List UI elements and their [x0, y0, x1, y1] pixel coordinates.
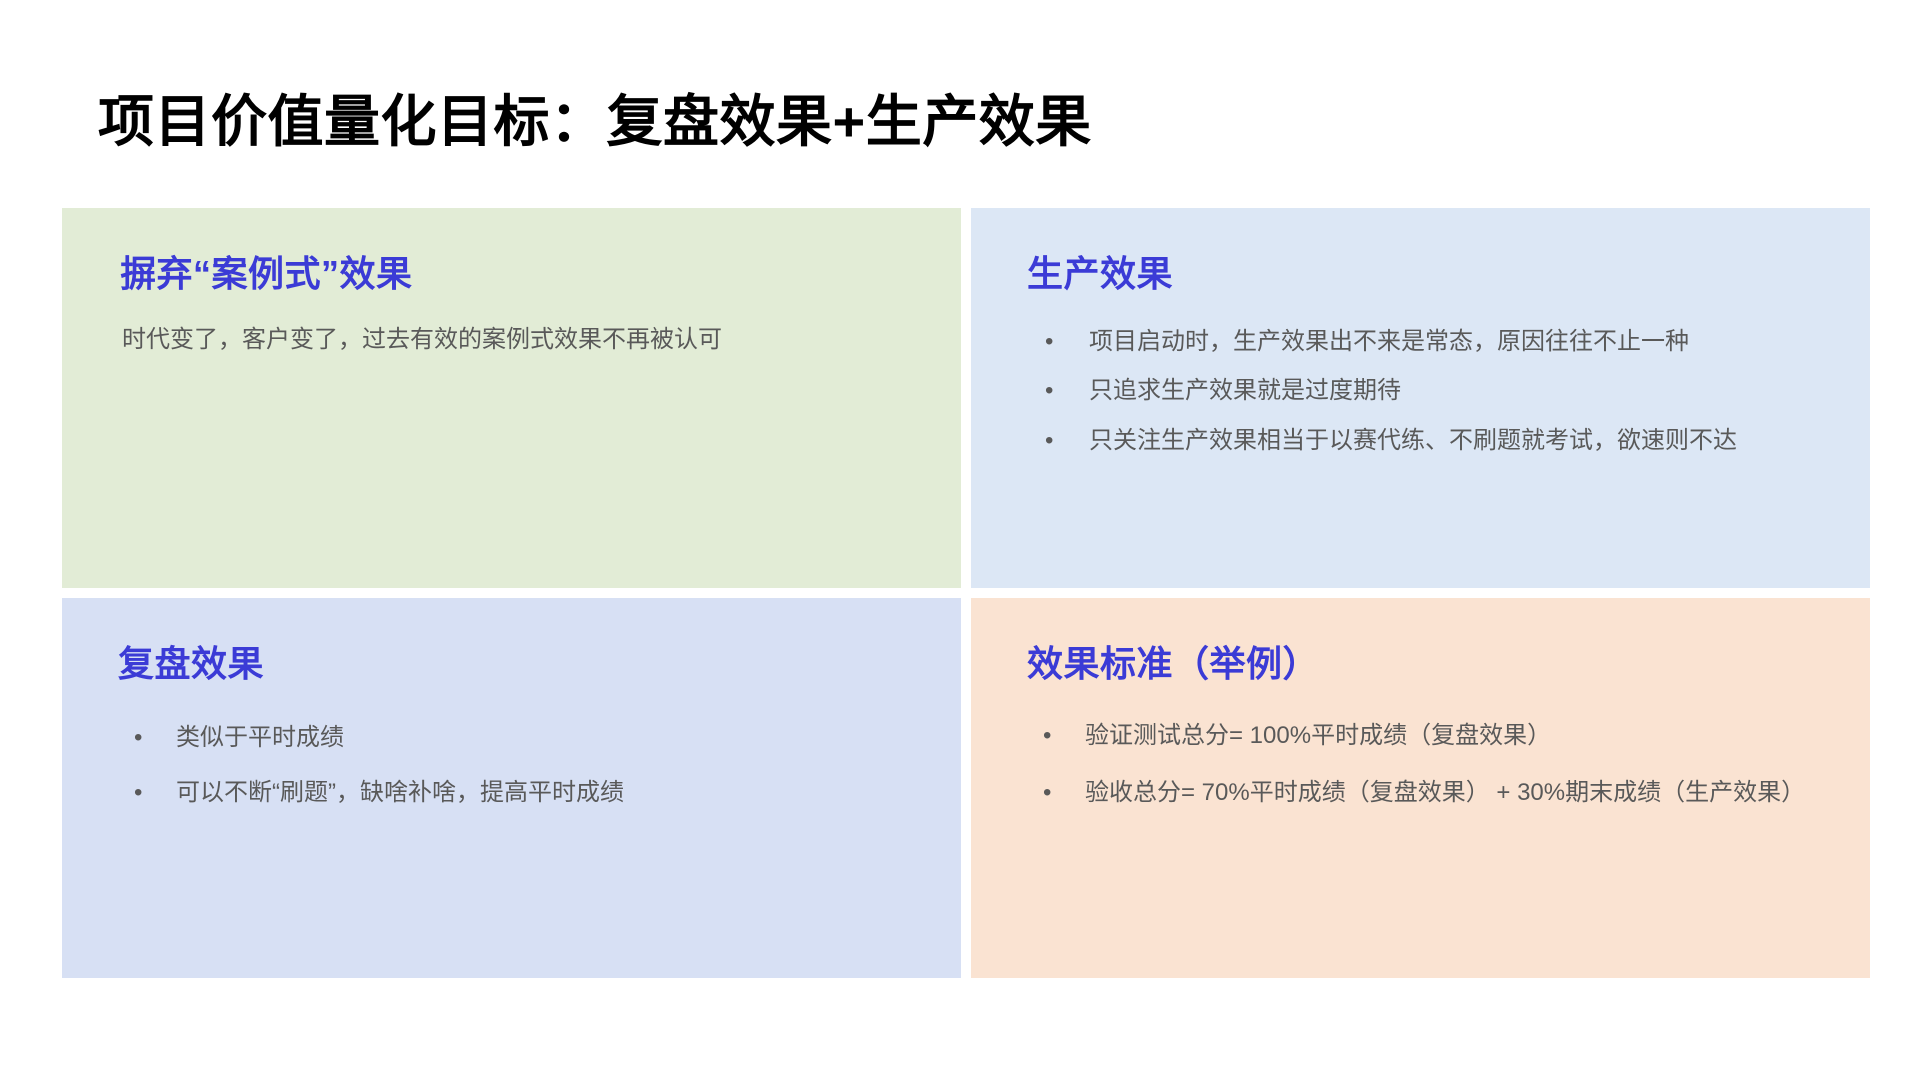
list-item: • 只追求生产效果就是过度期待: [1027, 370, 1814, 411]
list-item-label: 类似于平时成绩: [176, 724, 344, 751]
slide: 项目价值量化目标：复盘效果+生产效果 摒弃“案例式”效果 时代变了，客户变了，过…: [0, 0, 1920, 1080]
list-item-label: 只关注生产效果相当于以赛代练、不刷题就考试，欲速则不达: [1089, 427, 1737, 454]
list-item: • 可以不断“刷题”，缺啥补啥，提高平时成绩: [118, 772, 905, 813]
card-grid: 摒弃“案例式”效果 时代变了，客户变了，过去有效的案例式效果不再被认可 生产效果…: [62, 208, 1870, 978]
list-item-label: 验收总分= 70%平时成绩（复盘效果） + 30%期末成绩（生产效果）: [1085, 779, 1805, 806]
bullet-list: • 类似于平时成绩 • 可以不断“刷题”，缺啥补啥，提高平时成绩: [118, 717, 905, 814]
bullet-dot-icon: •: [134, 717, 142, 758]
card-heading: 复盘效果: [118, 642, 905, 685]
list-item: • 项目启动时，生产效果出不来是常态，原因往往不止一种: [1027, 321, 1814, 362]
list-item: • 验收总分= 70%平时成绩（复盘效果） + 30%期末成绩（生产效果）: [1027, 772, 1814, 813]
card-heading: 效果标准（举例）: [1027, 642, 1814, 685]
card-abandon-case-style: 摒弃“案例式”效果 时代变了，客户变了，过去有效的案例式效果不再被认可: [62, 208, 961, 588]
bullet-list: • 验证测试总分= 100%平时成绩（复盘效果） • 验收总分= 70%平时成绩…: [1027, 715, 1814, 814]
list-item-label: 验证测试总分= 100%平时成绩（复盘效果）: [1085, 722, 1551, 749]
list-item-label: 项目启动时，生产效果出不来是常态，原因往往不止一种: [1089, 328, 1689, 355]
bullet-dot-icon: •: [1043, 772, 1051, 813]
card-paragraph: 时代变了，客户变了，过去有效的案例式效果不再被认可: [118, 321, 905, 359]
card-heading: 生产效果: [1027, 252, 1814, 295]
bullet-dot-icon: •: [1043, 715, 1051, 756]
bullet-dot-icon: •: [1045, 370, 1053, 411]
list-item: • 只关注生产效果相当于以赛代练、不刷题就考试，欲速则不达: [1027, 420, 1814, 461]
list-item: • 类似于平时成绩: [118, 717, 905, 758]
card-effect-standard: 效果标准（举例） • 验证测试总分= 100%平时成绩（复盘效果） • 验收总分…: [971, 598, 1870, 978]
bullet-dot-icon: •: [1045, 321, 1053, 362]
list-item-label: 只追求生产效果就是过度期待: [1089, 377, 1401, 404]
bullet-dot-icon: •: [134, 772, 142, 813]
card-heading: 摒弃“案例式”效果: [120, 252, 905, 295]
card-review-effect: 复盘效果 • 类似于平时成绩 • 可以不断“刷题”，缺啥补啥，提高平时成绩: [62, 598, 961, 978]
list-item-label: 可以不断“刷题”，缺啥补啥，提高平时成绩: [176, 779, 624, 806]
bullet-list: • 项目启动时，生产效果出不来是常态，原因往往不止一种 • 只追求生产效果就是过…: [1027, 321, 1814, 461]
list-item: • 验证测试总分= 100%平时成绩（复盘效果）: [1027, 715, 1814, 756]
page-title: 项目价值量化目标：复盘效果+生产效果: [98, 90, 1092, 154]
bullet-dot-icon: •: [1045, 420, 1053, 461]
card-production-effect: 生产效果 • 项目启动时，生产效果出不来是常态，原因往往不止一种 • 只追求生产…: [971, 208, 1870, 588]
